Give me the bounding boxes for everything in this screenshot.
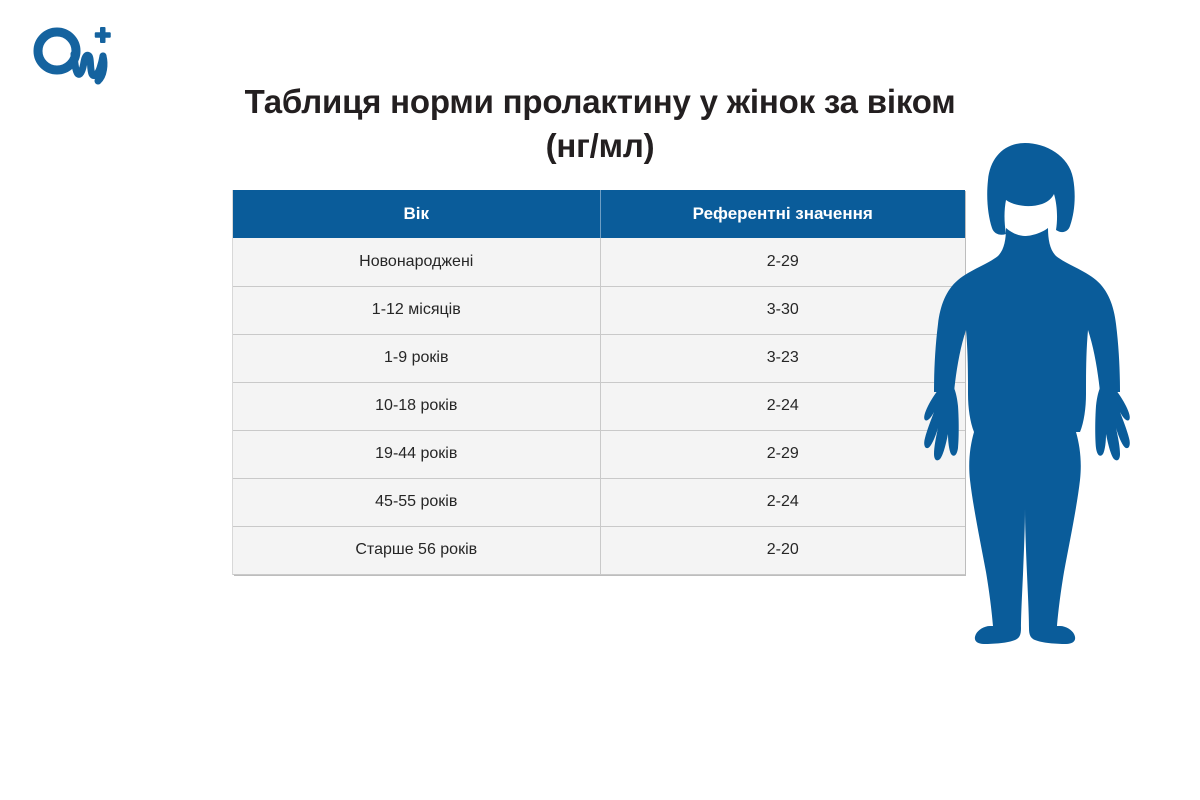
cell-age: 45-55 років [233, 478, 600, 526]
cell-age: Старше 56 років [233, 526, 600, 574]
cell-range: 2-24 [600, 478, 965, 526]
page-title-line-2: (нг/мл) [150, 124, 1050, 168]
table-row: 45-55 років 2-24 [233, 478, 965, 526]
cell-range: 2-24 [600, 382, 965, 430]
female-body-silhouette-icon [918, 140, 1133, 655]
table-header: Вік Референтні значення [233, 190, 965, 238]
table-row: Старше 56 років 2-20 [233, 526, 965, 574]
table-row: Новонароджені 2-29 [233, 238, 965, 286]
cell-range: 2-29 [600, 430, 965, 478]
column-header-range: Референтні значення [600, 190, 965, 238]
table-header-row: Вік Референтні значення [233, 190, 965, 238]
page-title-line-1: Таблиця норми пролактину у жінок за віко… [150, 80, 1050, 124]
table-row: 1-9 років 3-23 [233, 334, 965, 382]
cell-age: 19-44 років [233, 430, 600, 478]
column-header-age: Вік [233, 190, 600, 238]
cell-range: 3-30 [600, 286, 965, 334]
cell-age: 1-9 років [233, 334, 600, 382]
table-row: 10-18 років 2-24 [233, 382, 965, 430]
cell-age: 1-12 місяців [233, 286, 600, 334]
cell-range: 2-20 [600, 526, 965, 574]
prolactin-reference-table: Вік Референтні значення Новонароджені 2-… [233, 190, 965, 575]
cell-range: 3-23 [600, 334, 965, 382]
female-body-silhouette [918, 140, 1133, 655]
cell-age: 10-18 років [233, 382, 600, 430]
brand-logo[interactable] [30, 24, 120, 86]
table-row: 19-44 років 2-29 [233, 430, 965, 478]
cell-range: 2-29 [600, 238, 965, 286]
cell-age: Новонароджені [233, 238, 600, 286]
page-title: Таблиця норми пролактину у жінок за віко… [150, 80, 1050, 168]
table-body: Новонароджені 2-29 1-12 місяців 3-30 1-9… [233, 238, 965, 574]
table-row: 1-12 місяців 3-30 [233, 286, 965, 334]
brand-logo-icon [30, 24, 120, 86]
